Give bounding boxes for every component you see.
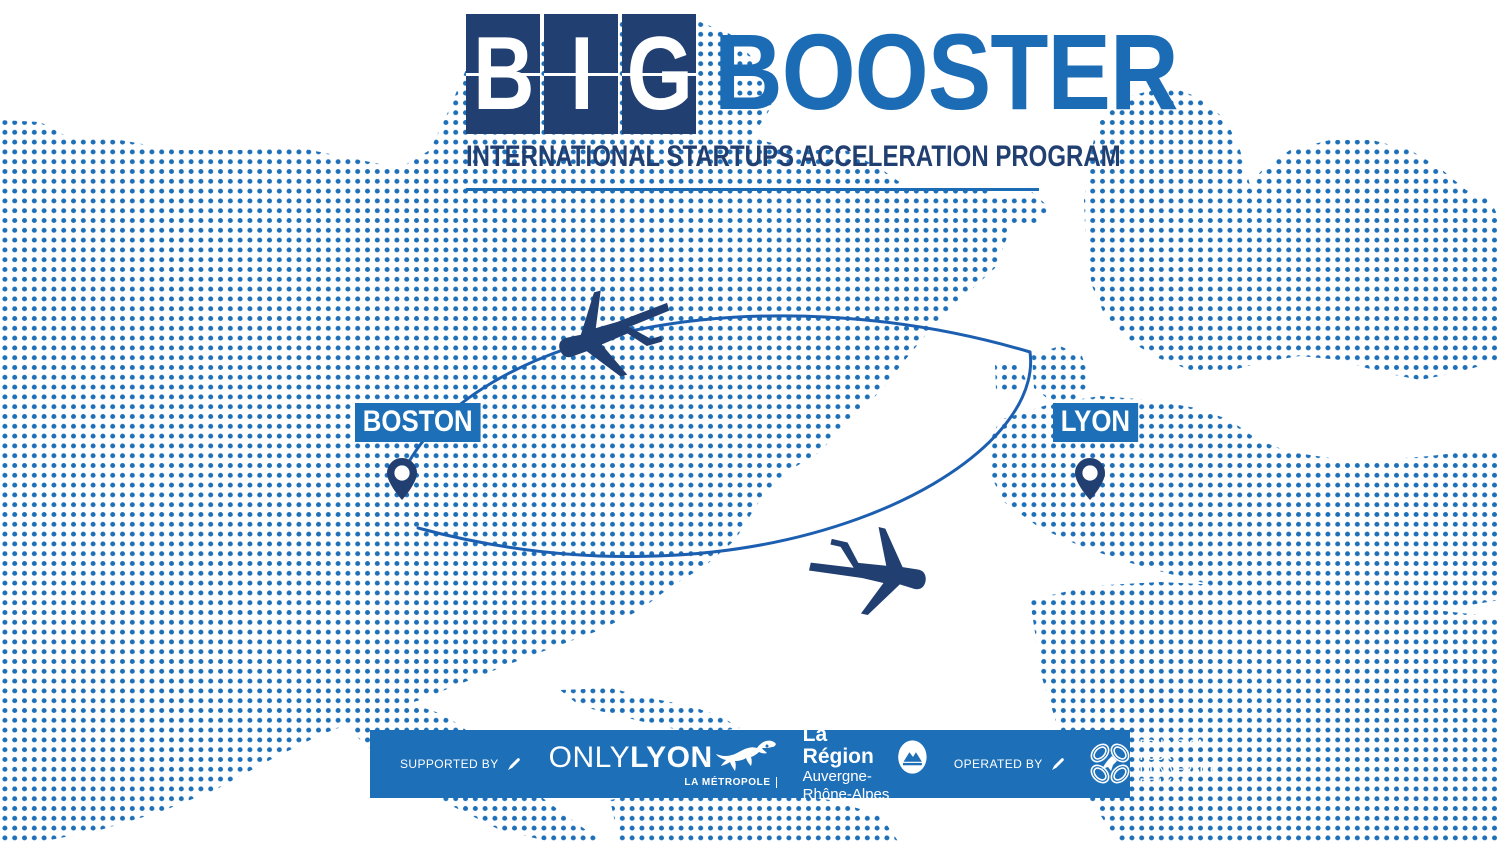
brand-divider-rule <box>466 188 1039 191</box>
region-line2: Auvergne-Rhône-Alpes <box>803 768 895 804</box>
map-pin-icon <box>387 458 417 500</box>
fondation-logo: FONDATION POUR L'UNIVERSITÉ DE LYON <box>1087 738 1218 790</box>
logo-tile-b: B <box>466 14 540 134</box>
fondation-line2: POUR <box>1140 751 1218 764</box>
logo-tile-i: I <box>544 14 618 134</box>
pen-nib-icon <box>1050 757 1065 772</box>
supported-by-group: SUPPORTED BY <box>400 757 521 772</box>
tile-split-line <box>544 73 618 76</box>
supported-by-label: SUPPORTED BY <box>400 757 499 771</box>
onlylyon-divider-bar <box>776 777 777 788</box>
pen-nib-icon <box>506 757 521 772</box>
city-marker-lyon: LYON <box>1053 403 1152 500</box>
brand-tagline: INTERNATIONAL STARTUPS ACCELERATION PROG… <box>466 142 930 172</box>
onlylyon-lyon-text: LYON <box>630 743 713 773</box>
region-logo: La Région Auvergne-Rhône-Alpes <box>803 724 928 804</box>
onlylyon-logo: ONLY LYON LA MÉTROPOLE <box>549 740 777 788</box>
onlylyon-metropole-text: LA MÉTROPOLE <box>684 777 770 788</box>
fondation-line4: DE LYON <box>1140 777 1218 790</box>
mountain-icon <box>897 727 928 787</box>
lion-icon <box>715 740 777 772</box>
fondation-line3: L'UNIVERSITÉ <box>1140 764 1218 777</box>
city-marker-boston: BOSTON <box>355 403 501 500</box>
map-pin-icon <box>1075 458 1105 500</box>
city-label-lyon: LYON <box>1053 403 1138 442</box>
brand-wordmark: BOOSTER <box>714 18 1178 126</box>
operated-by-group: OPERATED BY <box>954 757 1065 772</box>
region-line1: La Région <box>803 724 895 768</box>
operated-by-label: OPERATED BY <box>954 757 1043 771</box>
onlylyon-only-text: ONLY <box>549 743 630 773</box>
fondation-line1: FONDATION <box>1140 738 1218 751</box>
brand-logo: B I G BOOSTER INTERNATIONAL STARTUPS ACC… <box>466 14 1046 191</box>
tile-split-line <box>622 73 696 76</box>
poster-canvas: B I G BOOSTER INTERNATIONAL STARTUPS ACC… <box>0 0 1500 844</box>
city-label-boston: BOSTON <box>355 403 480 442</box>
sponsor-banner: SUPPORTED BY ONLY LYON LA MÉTROPOLE La <box>370 730 1130 798</box>
logo-tile-g: G <box>622 14 696 134</box>
tile-split-line <box>466 73 540 76</box>
big-letter-tiles: B I G <box>466 14 696 134</box>
knot-logo-icon <box>1087 740 1133 788</box>
